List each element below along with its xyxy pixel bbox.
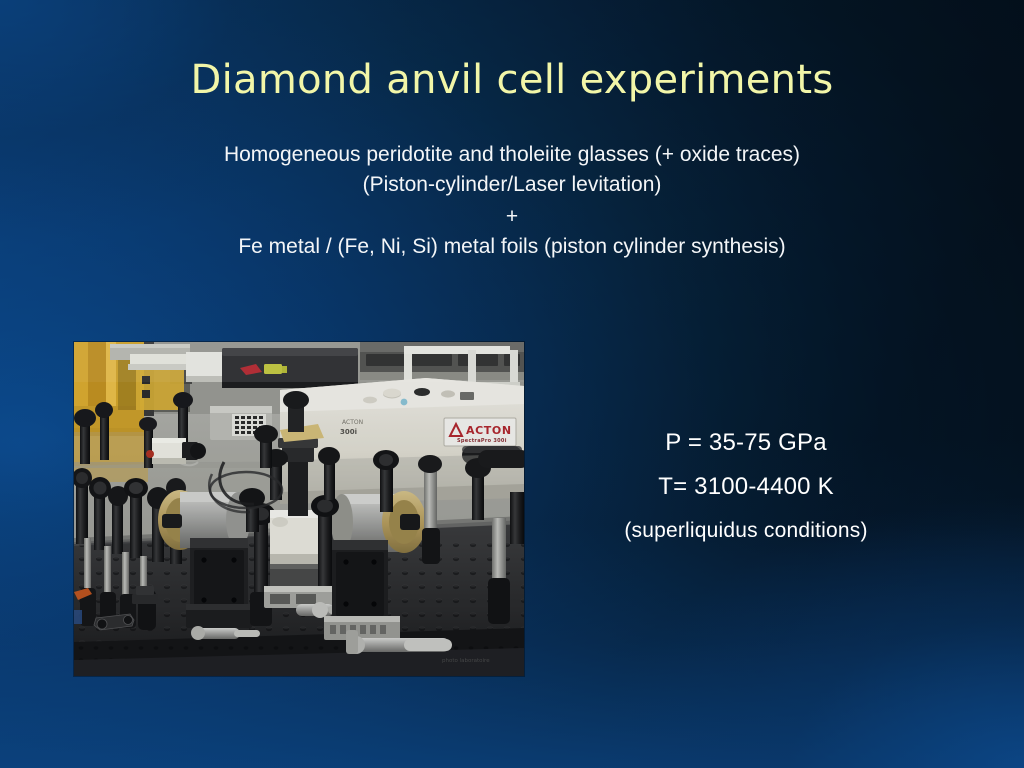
slide-canvas: Diamond anvil cell experiments Homogeneo… — [0, 0, 1024, 768]
lab-setup-photo-illustration: ACTON SpectraPro 300i ACTON 300i — [74, 342, 524, 676]
condition-temperature: T= 3100-4400 K — [560, 465, 932, 509]
sample-description-plus: + — [96, 200, 928, 232]
condition-pressure: P = 35-75 GPa — [560, 421, 932, 465]
sample-description-block: Homogeneous peridotite and tholeiite gla… — [96, 140, 928, 262]
lab-setup-photo: ACTON SpectraPro 300i ACTON 300i — [74, 342, 524, 676]
experimental-conditions-block: P = 35-75 GPa T= 3100-4400 K (superliqui… — [560, 421, 932, 553]
condition-note: (superliquidus conditions) — [560, 509, 932, 553]
sample-description-line-2: (Piston-cylinder/Laser levitation) — [96, 170, 928, 200]
sample-description-line-1: Homogeneous peridotite and tholeiite gla… — [96, 140, 928, 170]
slide-title: Diamond anvil cell experiments — [0, 58, 1024, 102]
sample-description-line-3: Fe metal / (Fe, Ni, Si) metal foils (pis… — [96, 232, 928, 262]
